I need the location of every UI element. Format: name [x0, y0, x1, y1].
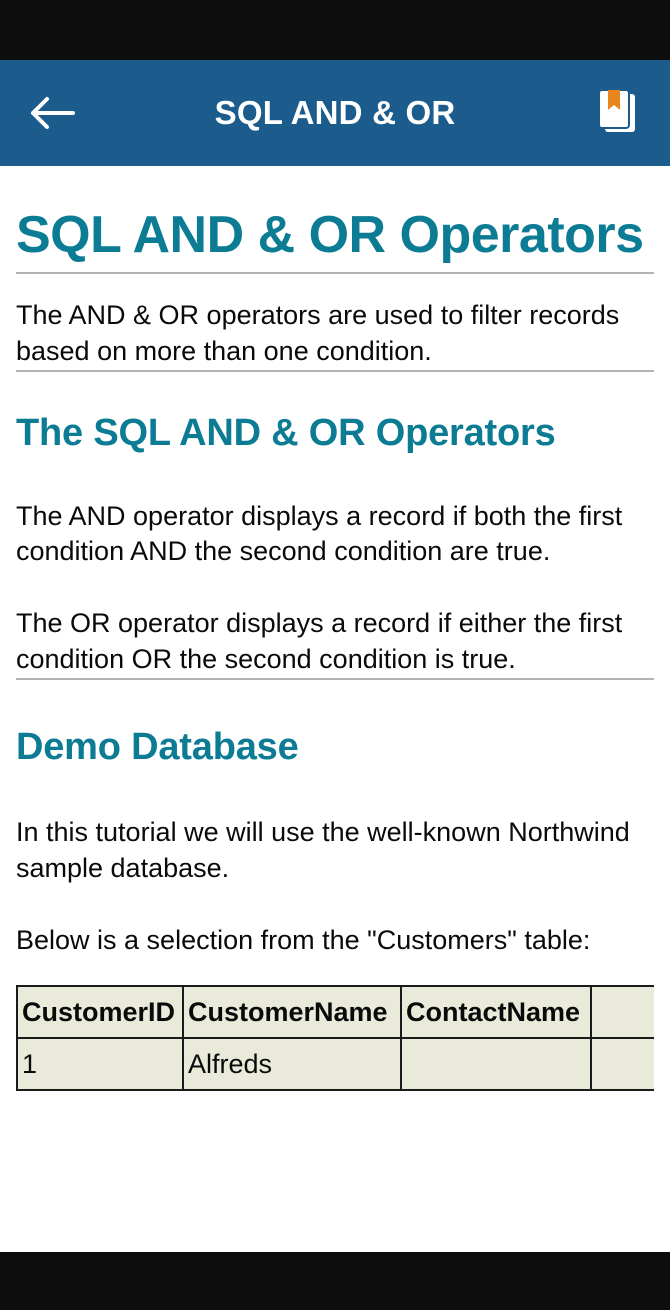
column-header-address: Ad: [591, 986, 654, 1038]
cell-customername: Alfreds: [183, 1038, 401, 1090]
app-bar-title: SQL AND & OR: [0, 94, 670, 132]
cell-contactname: [401, 1038, 591, 1090]
article-content: SQL AND & OR Operators The AND & OR oper…: [0, 166, 670, 1252]
arrow-left-icon: [30, 96, 76, 130]
paragraph-and-operator: The AND operator displays a record if bo…: [16, 499, 654, 571]
cell-address: [591, 1038, 654, 1090]
column-header-contactname: ContactName: [401, 986, 591, 1038]
intro-paragraph: The AND & OR operators are used to filte…: [16, 298, 654, 370]
divider-above-demo: [16, 678, 654, 680]
system-status-bar: [0, 0, 670, 60]
table-row: 1 Alfreds: [17, 1038, 654, 1090]
column-header-customerid: CustomerID: [17, 986, 183, 1038]
cell-customerid: 1: [17, 1038, 183, 1090]
back-button[interactable]: [24, 84, 82, 142]
paragraph-or-operator: The OR operator displays a record if eit…: [16, 606, 654, 678]
app-header-bar: SQL AND & OR: [0, 60, 670, 166]
page-title: SQL AND & OR Operators: [16, 200, 654, 272]
divider-below-intro: [16, 370, 654, 372]
section-title-operators: The SQL AND & OR Operators: [16, 412, 654, 455]
system-navigation-bar: [0, 1252, 670, 1310]
bookmark-button[interactable]: [588, 84, 646, 142]
column-header-customername: CustomerName: [183, 986, 401, 1038]
table-header-row: CustomerID CustomerName ContactName Ad: [17, 986, 654, 1038]
divider-above-intro: [16, 272, 654, 274]
paragraph-northwind: In this tutorial we will use the well-kn…: [16, 815, 654, 887]
app-root: SQL AND & OR SQL AND & OR Operators The …: [0, 0, 670, 1310]
customers-table: CustomerID CustomerName ContactName Ad 1…: [16, 985, 654, 1091]
paragraph-below-selection: Below is a selection from the "Customers…: [16, 923, 654, 959]
customers-table-scroll[interactable]: CustomerID CustomerName ContactName Ad 1…: [16, 985, 654, 1091]
section-title-demo-database: Demo Database: [16, 726, 654, 769]
book-bookmark-icon: [595, 89, 639, 137]
